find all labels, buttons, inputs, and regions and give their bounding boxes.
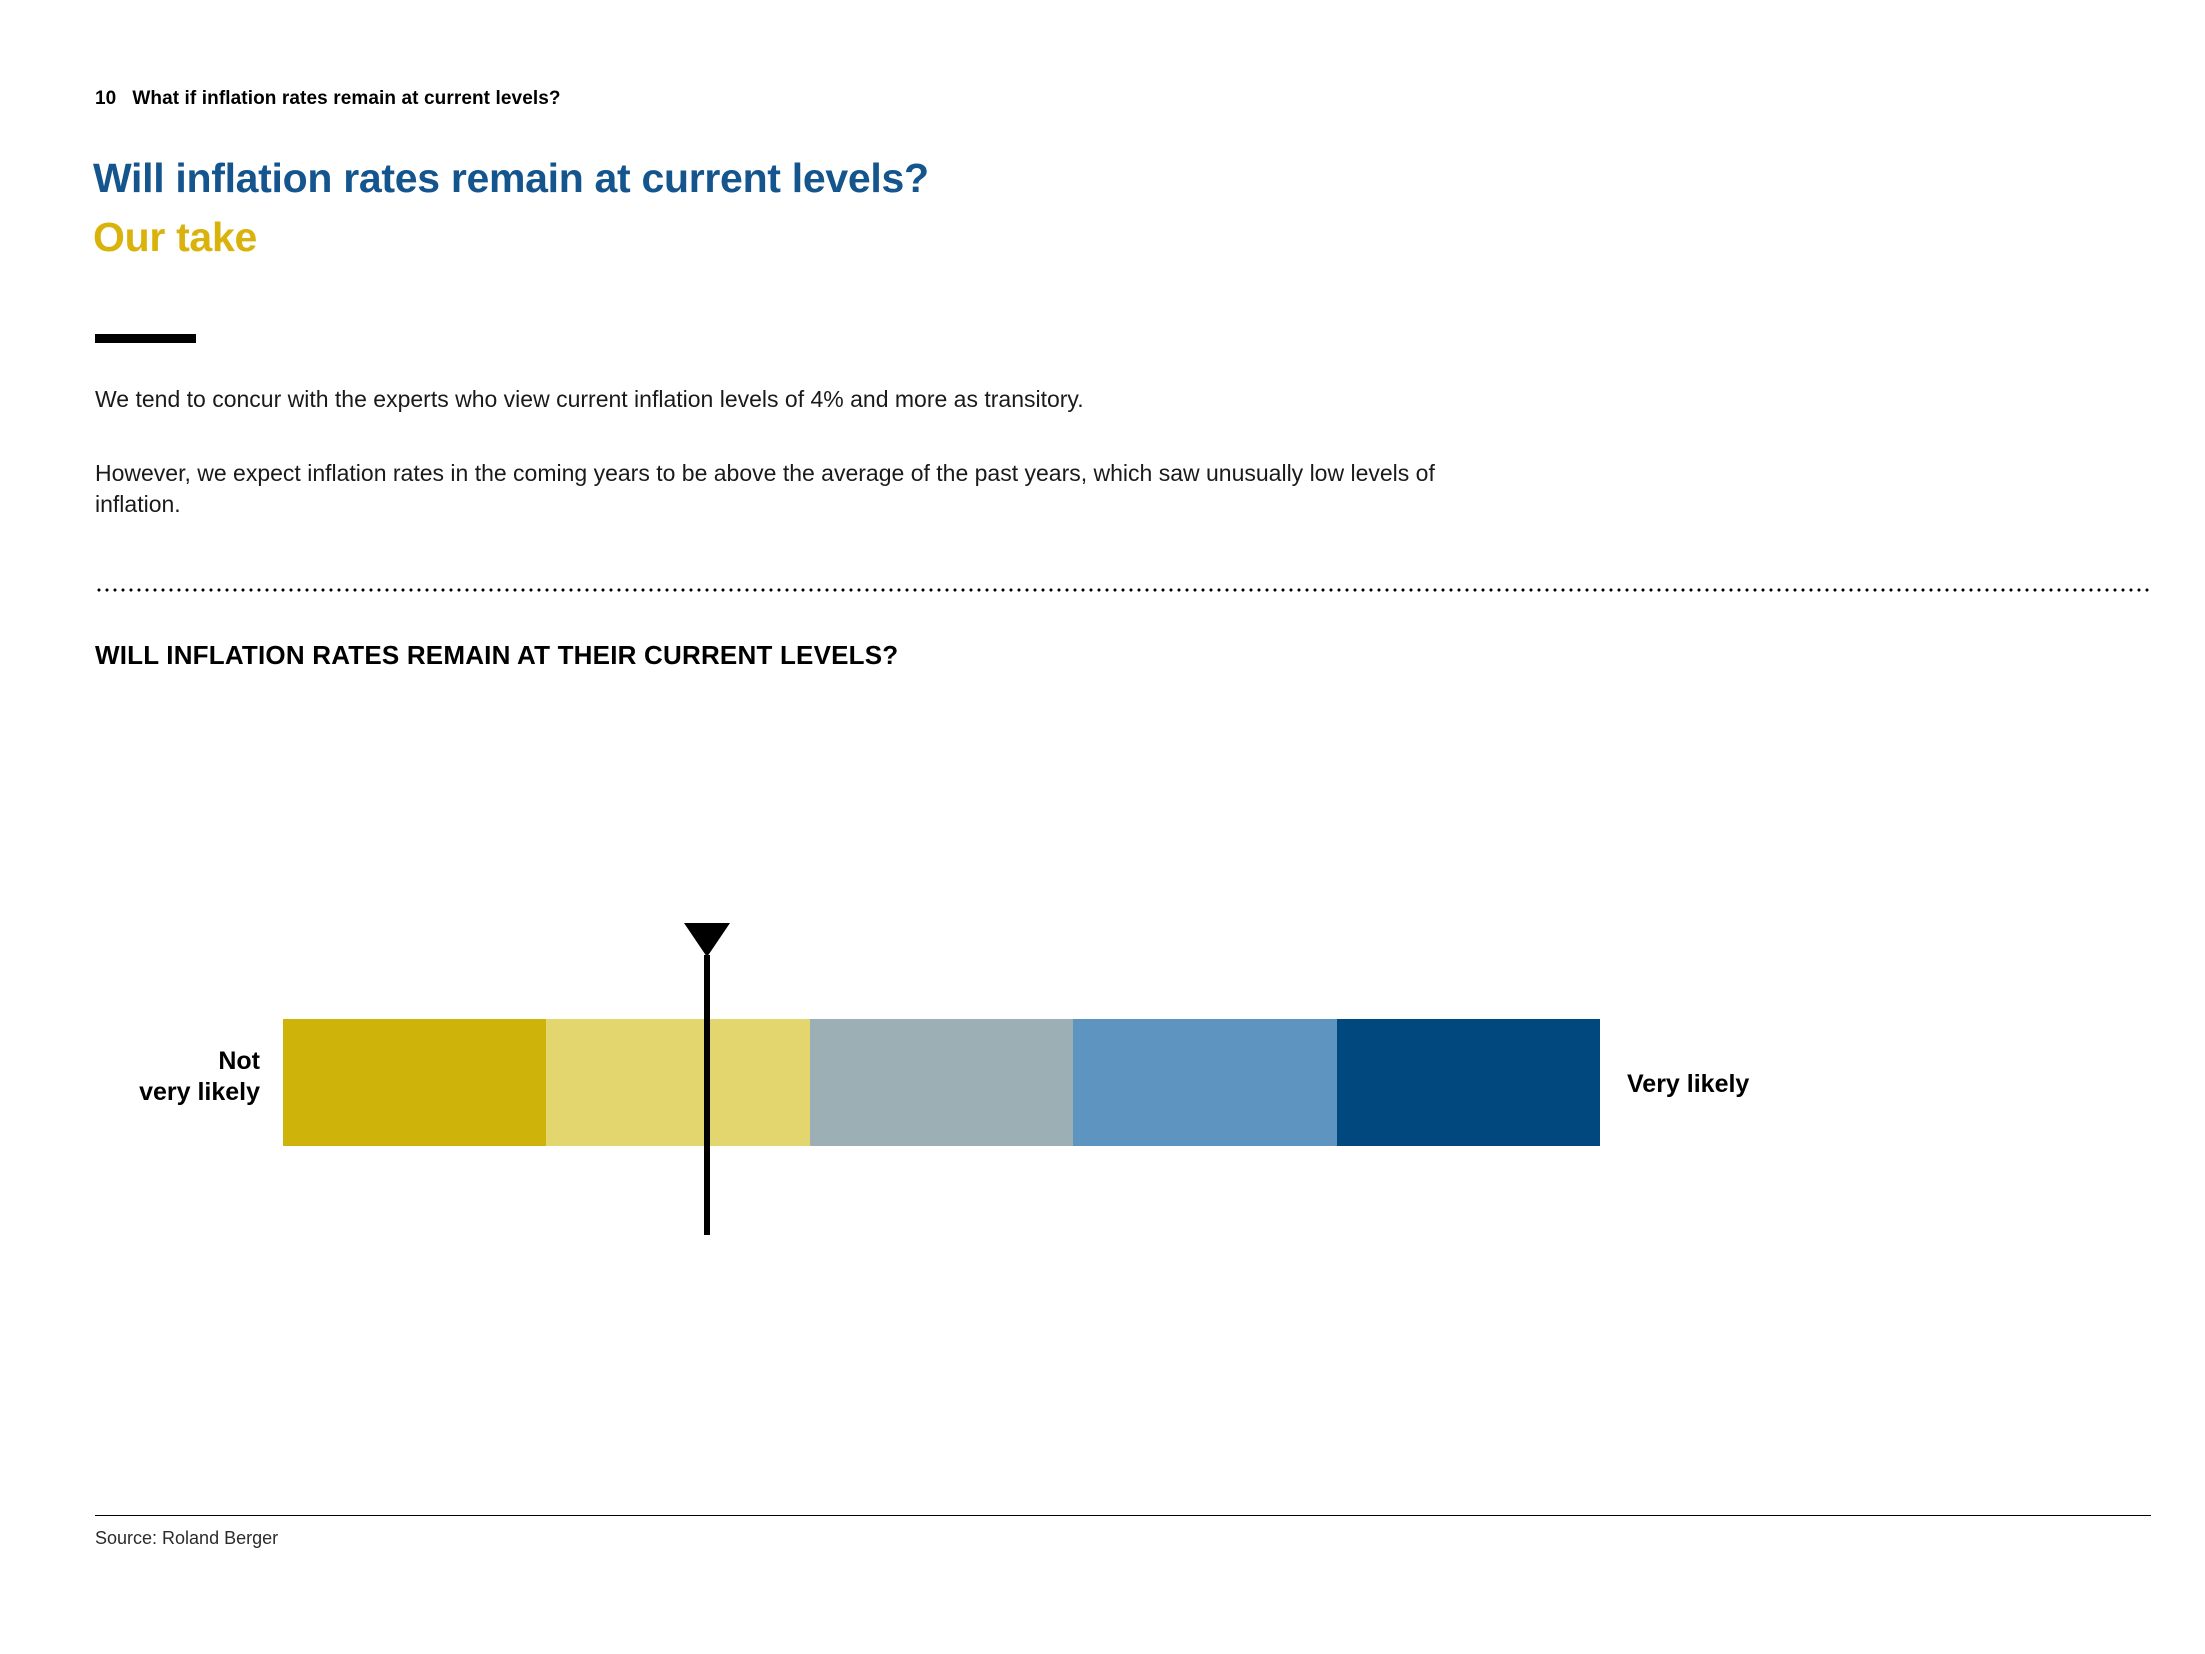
- running-header-title: What if inflation rates remain at curren…: [132, 88, 560, 109]
- marker-line: [704, 955, 710, 1235]
- page-title: Will inflation rates remain at current l…: [93, 158, 929, 199]
- scale-segment-4[interactable]: [1073, 1019, 1336, 1146]
- source-note: Source: Roland Berger: [95, 1528, 278, 1549]
- scale-bar[interactable]: [283, 1019, 1600, 1146]
- scale-label-left-line2: very likely: [60, 1077, 260, 1108]
- dotted-divider: [95, 588, 2151, 592]
- running-header: 10What if inflation rates remain at curr…: [95, 88, 561, 110]
- page-canvas: 10What if inflation rates remain at curr…: [0, 0, 2205, 1654]
- body-copy: We tend to concur with the experts who v…: [95, 384, 1495, 519]
- paragraph-1: We tend to concur with the experts who v…: [95, 384, 1495, 414]
- footer-rule: [95, 1515, 2151, 1516]
- title-block: Will inflation rates remain at current l…: [93, 158, 929, 258]
- page-number: 10: [95, 88, 116, 109]
- heading-rule-divider: [95, 334, 196, 343]
- scale-label-left-line1: Not: [60, 1046, 260, 1077]
- page-subtitle: Our take: [93, 217, 929, 258]
- scale-segment-5[interactable]: [1337, 1019, 1600, 1146]
- paragraph-2: However, we expect inflation rates in th…: [95, 458, 1495, 519]
- down-triangle-pointer-icon: [684, 923, 730, 957]
- scale-label-left: Not very likely: [60, 1046, 260, 1109]
- exhibit-title: WILL INFLATION RATES REMAIN AT THEIR CUR…: [95, 640, 898, 671]
- scale-label-right: Very likely: [1627, 1070, 1749, 1099]
- scale-segment-2[interactable]: [546, 1019, 809, 1146]
- scale-segment-1[interactable]: [283, 1019, 546, 1146]
- scale-segment-3[interactable]: [810, 1019, 1073, 1146]
